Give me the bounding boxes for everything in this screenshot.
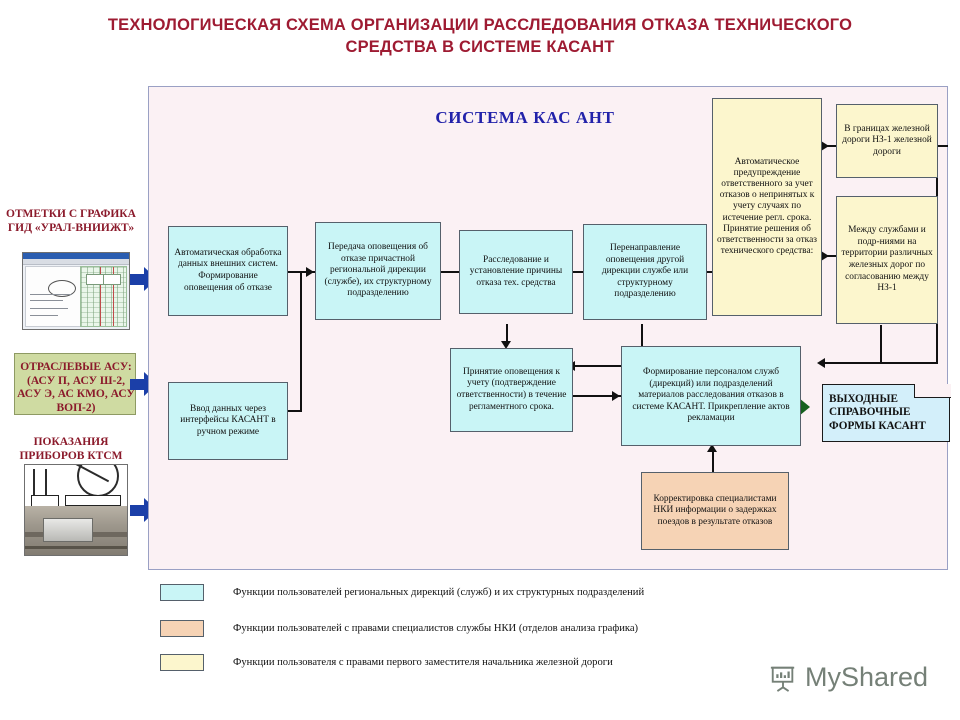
legend-label-peach: Функции пользователей с правами специали… [233,623,638,634]
arrowhead-icon [821,251,829,261]
node-auto-warning[interactable]: Автоматическое предупреждение ответствен… [712,98,822,316]
connector [938,145,948,147]
node-manual-input[interactable]: Ввод данных через интерфейсы КАСАНТ в ру… [168,382,288,460]
input-label-ktsm: ПОКАЗАНИЯ ПРИБОРОВ КТСМ [6,436,136,463]
node-investigation[interactable]: Расследование и установление причины отк… [459,230,573,314]
watermark: MyShared [768,662,928,693]
gid-line [30,308,67,309]
node-auto-processing[interactable]: Автоматическая обработка данных внешних … [168,226,288,316]
node-acceptance[interactable]: Принятие оповещения к учету (подтвержден… [450,348,573,432]
node-between-services[interactable]: Между службами и подр-ниями на территори… [836,196,938,324]
arrowhead-icon [612,391,620,401]
arrowhead-icon [306,267,314,277]
input-box-asu: ОТРАСЛЕВЫЕ АСУ: (АСУ П, АСУ Ш-2, АСУ Э, … [14,353,136,415]
legend-swatch-peach [160,620,204,637]
slide-canvas: ТЕХНОЛОГИЧЕСКАЯ СХЕМА ОРГАНИЗАЦИИ РАССЛЕ… [0,0,960,720]
node-transfer-notice[interactable]: Передача оповещения об отказе причастной… [315,222,441,320]
doc-fold-icon [914,384,951,398]
node-within-railway[interactable]: В границах железной дороги НЗ-1 железной… [836,104,938,178]
legend-label-cyan: Функции пользователей региональных дирек… [233,587,644,598]
gid-cell [103,274,121,285]
gid-line [30,315,58,316]
legend-swatch-yellow [160,654,204,671]
input-label-asu: ОТРАСЛЕВЫЕ АСУ: (АСУ П, АСУ Ш-2, АСУ Э, … [15,361,137,415]
legend-swatch-cyan [160,584,204,601]
gid-right-grid [80,266,127,327]
page-title: ТЕХНОЛОГИЧЕСКАЯ СХЕМА ОРГАНИЗАЦИИ РАССЛЕ… [80,14,880,58]
gid-line [30,294,72,295]
ktsm-photo-thumbnail [24,464,128,556]
input-label-gid: ОТМЕТКИ С ГРАФИКА ГИД «УРАЛ-ВНИИЖТ» [6,208,136,235]
presentation-board-icon [768,664,798,692]
gid-menubar [23,259,129,265]
ktsm-sensor-box [43,518,93,542]
system-title: СИСТЕМА КАС АНТ [390,108,660,128]
arrowhead-icon [821,141,829,151]
node-materials-forming[interactable]: Формирование персоналом служб (дирекций)… [621,346,801,446]
arrowhead-icon [817,358,825,368]
gid-left-pane [25,266,82,327]
connector [300,271,302,411]
connector [441,271,459,273]
system-frame [148,86,948,570]
watermark-text: MyShared [805,662,928,693]
node-redirect[interactable]: Перенаправление оповещения другой дирекц… [583,224,707,320]
ktsm-device-photo [25,506,127,555]
ktsm-technical-drawing [25,465,127,508]
node-correction-nki[interactable]: Корректировка специалистами НКИ информац… [641,472,789,550]
legend-label-yellow: Функции пользователя с правами первого з… [233,657,613,668]
connector [288,410,302,412]
connector [880,325,882,363]
gid-screenshot-thumbnail [22,252,130,330]
gid-line [30,300,63,301]
